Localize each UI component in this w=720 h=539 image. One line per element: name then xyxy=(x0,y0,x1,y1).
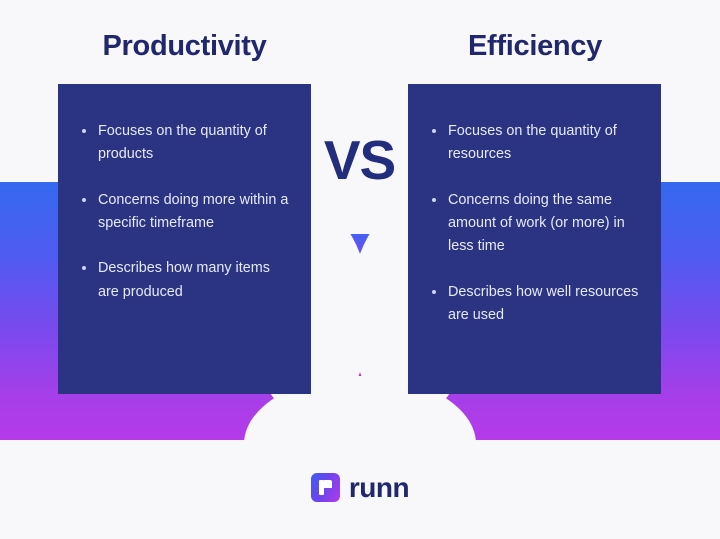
bullet-list-productivity: Focuses on the quantity of products Conc… xyxy=(80,120,289,304)
list-item: Focuses on the quantity of resources xyxy=(430,120,639,167)
list-item: Concerns doing more within a specific ti… xyxy=(80,189,289,236)
brand-logo: runn xyxy=(0,473,720,502)
column-heading-productivity: Productivity xyxy=(58,30,311,63)
panel-productivity: Focuses on the quantity of products Conc… xyxy=(58,84,311,394)
runn-r-icon xyxy=(311,473,340,502)
infographic-canvas: Productivity Efficiency Focuses on the q… xyxy=(0,0,720,539)
panel-efficiency: Focuses on the quantity of resources Con… xyxy=(408,84,661,394)
bullet-list-efficiency: Focuses on the quantity of resources Con… xyxy=(430,120,639,327)
list-item: Concerns doing the same amount of work (… xyxy=(430,189,639,259)
versus-label: VS xyxy=(311,133,408,188)
brand-wordmark: runn xyxy=(349,474,409,502)
list-item: Describes how many items are produced xyxy=(80,257,289,304)
column-heading-efficiency: Efficiency xyxy=(408,30,662,63)
list-item: Focuses on the quantity of products xyxy=(80,120,289,167)
runn-r-icon-arm xyxy=(324,480,332,488)
list-item: Describes how well resources are used xyxy=(430,281,639,328)
